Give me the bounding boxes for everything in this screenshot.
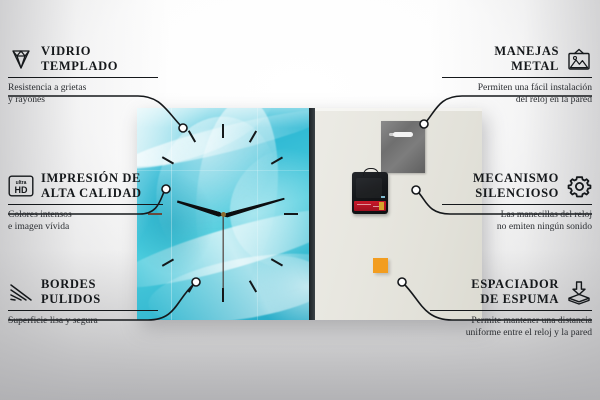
hour-tick (222, 124, 224, 138)
callout-subtitle: Colores intensos e imagen vívida (8, 209, 163, 233)
callout-sub-line2: uniforme entre el reloj y la pared (466, 327, 592, 338)
diamond-icon (8, 47, 34, 71)
hour-tick (284, 213, 298, 215)
callout-title-line2: PULIDOS (41, 292, 101, 306)
back-panel-highlight (315, 108, 482, 111)
callout-title-line2: ALTA CALIDAD (41, 186, 142, 200)
callout-manejas-metal: MANEJAS METAL Permiten una fácil instala… (442, 44, 592, 106)
callout-bordes-pulidos: BORDES PULIDOS Superficie lisa y segura (8, 277, 158, 327)
foam-spacer (373, 258, 388, 273)
polished-edges-icon (8, 280, 34, 304)
callout-sub-line1: Permite mantener una distancia (471, 315, 592, 326)
callout-impresion-alta-calidad: ultra HD IMPRESIÓN DE ALTA CALIDAD Color… (8, 171, 163, 233)
callout-title-line2: METAL (511, 59, 559, 73)
callout-title: IMPRESIÓN DE ALTA CALIDAD (41, 171, 142, 201)
callout-title: BORDES PULIDOS (41, 277, 101, 307)
mechanism-panel (356, 178, 382, 198)
glass-seam (257, 108, 258, 320)
callout-subtitle: Permite mantener una distancia uniforme … (430, 315, 592, 339)
callout-title-line2: DE ESPUMA (480, 292, 559, 306)
callout-header: ultra HD IMPRESIÓN DE ALTA CALIDAD (8, 171, 163, 201)
callout-sub-line2: e imagen vívida (8, 221, 69, 232)
callout-sub-line1: Superficie lisa y segura (8, 315, 98, 326)
callout-subtitle: Resistencia a grietas y rayones (8, 82, 158, 106)
callout-rule (8, 310, 158, 311)
callout-sub-line1: Las manecillas del reloj (501, 209, 592, 220)
callout-espaciador-espuma: ESPACIADOR DE ESPUMA Permite mantener un… (430, 277, 592, 339)
callout-sub-line1: Resistencia a grietas (8, 82, 86, 93)
callout-header: ESPACIADOR DE ESPUMA (430, 277, 592, 307)
hour-tick (222, 288, 224, 302)
picture-frame-hanger-icon (566, 47, 592, 71)
battery (354, 201, 386, 211)
glass-seam (171, 108, 172, 320)
callout-title: VIDRIO TEMPLADO (41, 44, 118, 74)
hanger-plate (381, 121, 425, 173)
ultra-hd-icon: ultra HD (8, 174, 34, 198)
battery-stripe (357, 204, 371, 205)
callout-rule (442, 77, 592, 78)
callout-rule (8, 77, 158, 78)
clock-center-cap (221, 212, 226, 217)
callout-title-line1: MECANISMO (473, 171, 559, 185)
callout-title-line1: MANEJAS (494, 44, 559, 58)
callout-subtitle: Superficie lisa y segura (8, 315, 158, 327)
battery-terminal (379, 202, 384, 210)
callout-title: ESPACIADOR DE ESPUMA (471, 277, 559, 307)
hanger-slot (393, 132, 413, 137)
callout-sub-line1: Colores intensos (8, 209, 72, 220)
quartz-mechanism (352, 172, 388, 214)
gear-icon (566, 174, 592, 198)
callout-title-line1: IMPRESIÓN DE (41, 171, 141, 185)
callout-rule (430, 310, 592, 311)
callout-sub-line2: del reloj en la pared (516, 94, 592, 105)
callout-sub-line1: Permiten una fácil instalación (478, 82, 592, 93)
callout-header: BORDES PULIDOS (8, 277, 158, 307)
mechanism-led (381, 196, 385, 198)
callout-title: MECANISMO SILENCIOSO (473, 171, 559, 201)
product-feature-infographic: VIDRIO TEMPLADO Resistencia a grietas y … (0, 0, 600, 400)
callout-subtitle: Las manecillas del reloj no emiten ningú… (442, 209, 592, 233)
callout-title: MANEJAS METAL (494, 44, 559, 74)
callout-title-line1: ESPACIADOR (471, 277, 559, 291)
callout-header: MECANISMO SILENCIOSO (442, 171, 592, 201)
callout-rule (442, 204, 592, 205)
svg-text:HD: HD (15, 185, 28, 195)
callout-sub-line2: y rayones (8, 94, 45, 105)
callout-title-line2: TEMPLADO (41, 59, 118, 73)
callout-vidrio-templado: VIDRIO TEMPLADO Resistencia a grietas y … (8, 44, 158, 106)
callout-header: VIDRIO TEMPLADO (8, 44, 158, 74)
callout-mecanismo-silencioso: MECANISMO SILENCIOSO Las manecillas del … (442, 171, 592, 233)
callout-rule (8, 204, 163, 205)
callout-title-line1: VIDRIO (41, 44, 91, 58)
callout-header: MANEJAS METAL (442, 44, 592, 74)
clock-second-hand (222, 215, 223, 289)
mechanism-hanging-loop (363, 168, 379, 176)
callout-title-line1: BORDES (41, 277, 96, 291)
callout-sub-line2: no emiten ningún sonido (497, 221, 592, 232)
foam-spacer-arrow-icon (566, 280, 592, 304)
callout-title-line2: SILENCIOSO (475, 186, 559, 200)
callout-subtitle: Permiten una fácil instalación del reloj… (442, 82, 592, 106)
